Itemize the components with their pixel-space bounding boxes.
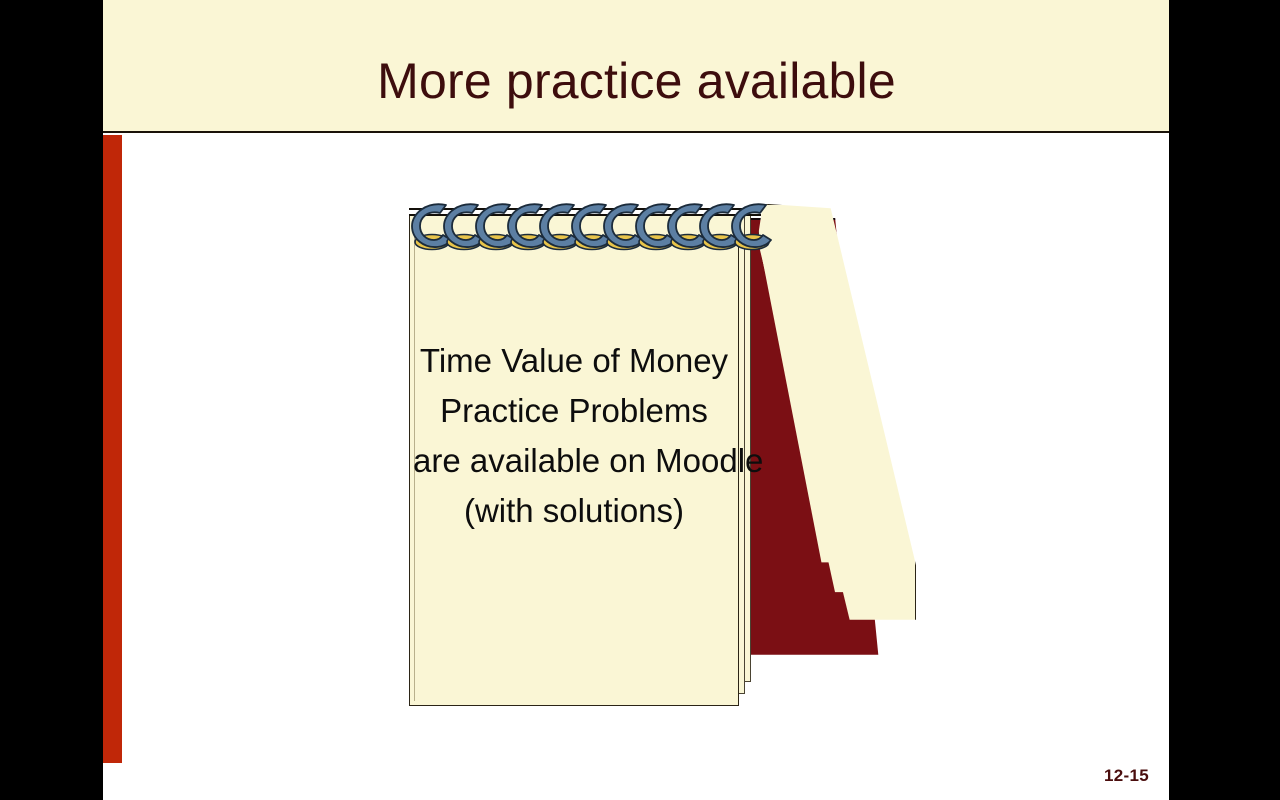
left-accent-bar (103, 135, 122, 763)
note-line-1: Time Value of Money (413, 336, 735, 386)
page-title: More practice available (103, 56, 1169, 106)
slide-canvas: More practice available (103, 0, 1169, 800)
title-banner: More practice available (103, 0, 1169, 133)
note-line-3: are available on Moodle (413, 436, 735, 486)
page-number: 12-15 (1104, 766, 1149, 786)
binding-strip (409, 206, 761, 224)
slide-root: More practice available (0, 0, 1280, 800)
binding-rule-bottom (409, 214, 761, 216)
notepad-note-text: Time Value of Money Practice Problems ar… (413, 336, 735, 536)
note-line-2: Practice Problems (413, 386, 735, 436)
note-line-4: (with solutions) (413, 486, 735, 536)
notepad-illustration: Time Value of Money Practice Problems ar… (306, 196, 916, 706)
